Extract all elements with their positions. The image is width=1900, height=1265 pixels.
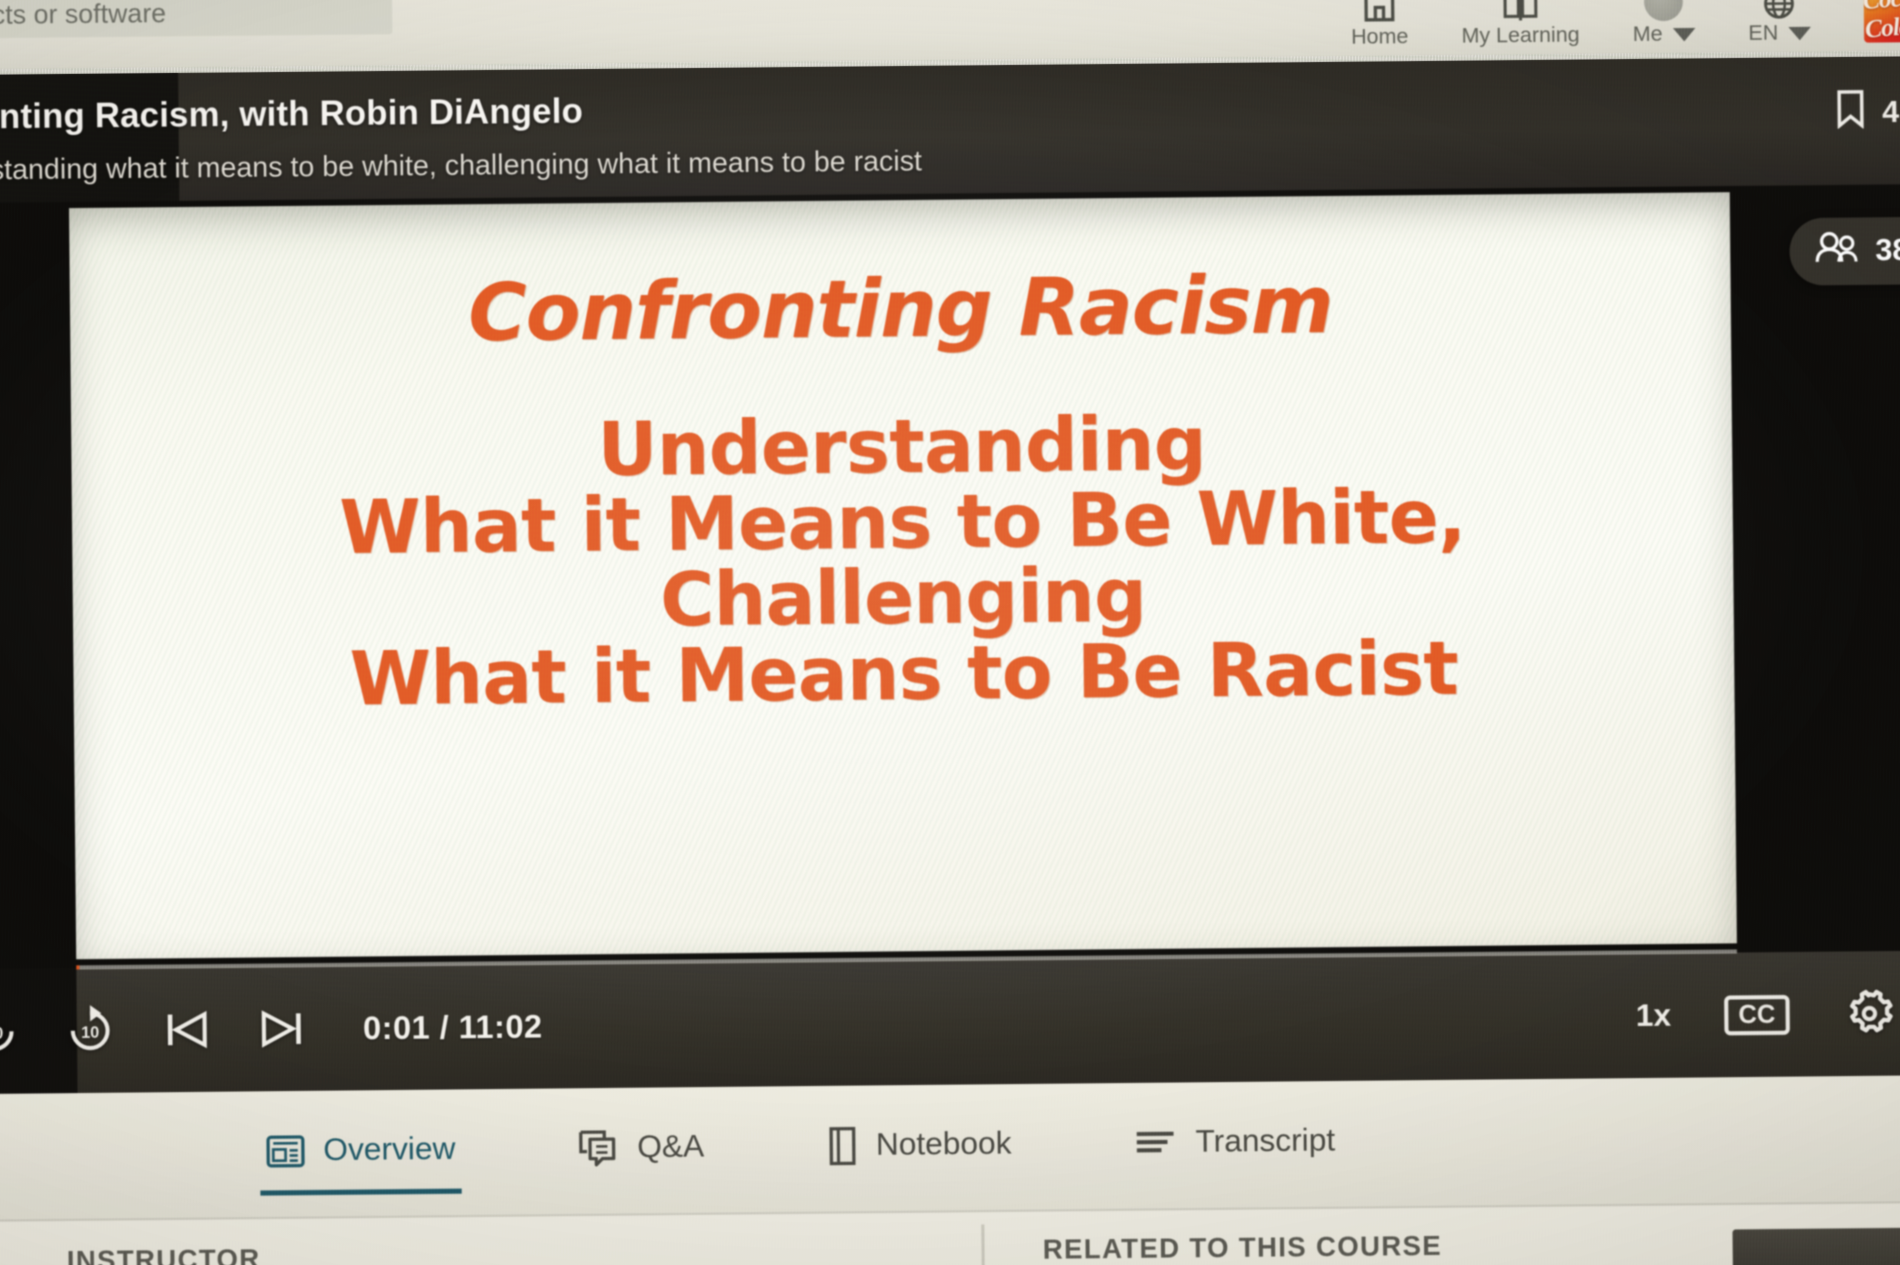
save-count-label: 4,286	[1882, 95, 1900, 130]
search-input[interactable]: r skills, subjects or software	[0, 0, 392, 40]
slide-body: Understanding What it Means to Be White,…	[338, 403, 1467, 717]
related-section-label: RELATED TO THIS COURSE	[1043, 1230, 1443, 1265]
primary-nav: Home My Learning Me	[1351, 0, 1900, 56]
lines-icon	[1134, 1128, 1177, 1159]
forward-10-icon[interactable]: 10	[62, 1003, 118, 1059]
chat-icon	[578, 1129, 619, 1168]
tab-notebook[interactable]: Notebook	[820, 1092, 1018, 1198]
content-tabs: Overview Q&A	[0, 1075, 1900, 1222]
overview-icon	[266, 1134, 305, 1169]
player-control-bar: 10 10	[0, 950, 1900, 1094]
gear-icon[interactable]	[1843, 987, 1897, 1041]
video-player-stage[interactable]: Confronting Racism Understanding What it…	[0, 184, 1900, 970]
tab-label-overview: Overview	[323, 1130, 455, 1170]
column-divider	[981, 1224, 985, 1265]
tab-label-qa: Q&A	[637, 1128, 704, 1167]
tab-overview[interactable]: Overview	[259, 1098, 462, 1204]
nav-label-me: Me	[1633, 22, 1663, 47]
bookmark-icon	[1835, 90, 1866, 137]
rewind-10-icon[interactable]: 10	[0, 1004, 22, 1060]
captions-button[interactable]: CC	[1724, 994, 1790, 1034]
playback-speed-button[interactable]: 1x	[1636, 997, 1672, 1034]
brand-logo[interactable]: Coca-Cola	[1864, 0, 1900, 51]
nav-item-my-learning[interactable]: My Learning	[1461, 0, 1580, 55]
brand-wordmark: Coca-Cola	[1864, 0, 1900, 43]
chevron-down-icon	[1673, 27, 1696, 41]
next-video-button[interactable]	[254, 1001, 310, 1057]
tab-transcript[interactable]: Transcript	[1128, 1089, 1342, 1195]
nav-item-me[interactable]: Me	[1632, 0, 1695, 53]
slide-line-2: What it Means to Be White,	[339, 479, 1466, 566]
slide-line-4: What it Means to Be Racist	[341, 631, 1468, 718]
chevron-down-icon	[1788, 26, 1811, 40]
nav-item-language[interactable]: EN	[1748, 0, 1811, 52]
instructor-section-label: INSTRUCTOR	[67, 1244, 261, 1265]
viewers-count-label: 381 a	[1875, 233, 1900, 268]
notebook-icon	[827, 1126, 858, 1167]
course-title: ronting Racism, with Robin DiAngelo	[0, 92, 583, 138]
svg-text:10: 10	[0, 1025, 3, 1043]
svg-text:10: 10	[81, 1024, 99, 1042]
slide-title: Confronting Racism	[468, 259, 1333, 359]
nav-label-language: EN	[1748, 21, 1778, 46]
previous-video-button[interactable]	[158, 1002, 214, 1058]
time-display: 0:01 / 11:02	[363, 1007, 543, 1047]
tab-label-transcript: Transcript	[1195, 1122, 1335, 1162]
tab-qa[interactable]: Q&A	[571, 1095, 710, 1201]
people-icon	[1814, 231, 1859, 272]
viewers-watching-badge: 381 a	[1789, 216, 1900, 285]
active-tab-underline	[260, 1189, 462, 1196]
nav-label-my-learning: My Learning	[1461, 23, 1579, 49]
save-course-button[interactable]: 4,286	[1835, 89, 1900, 137]
nav-item-home[interactable]: Home	[1351, 0, 1409, 56]
book-open-icon	[1502, 0, 1539, 23]
video-slide: Confronting Racism Understanding What it…	[69, 192, 1737, 959]
search-placeholder: r skills, subjects or software	[0, 0, 166, 32]
nav-label-home: Home	[1351, 25, 1408, 50]
tab-label-notebook: Notebook	[876, 1125, 1012, 1165]
course-header-bar: ronting Racism, with Robin DiAngelo erst…	[0, 56, 1900, 203]
globe-icon	[1762, 0, 1797, 20]
related-course-thumbnail[interactable]	[1732, 1227, 1900, 1265]
avatar-icon	[1644, 0, 1683, 21]
home-icon	[1362, 0, 1397, 24]
